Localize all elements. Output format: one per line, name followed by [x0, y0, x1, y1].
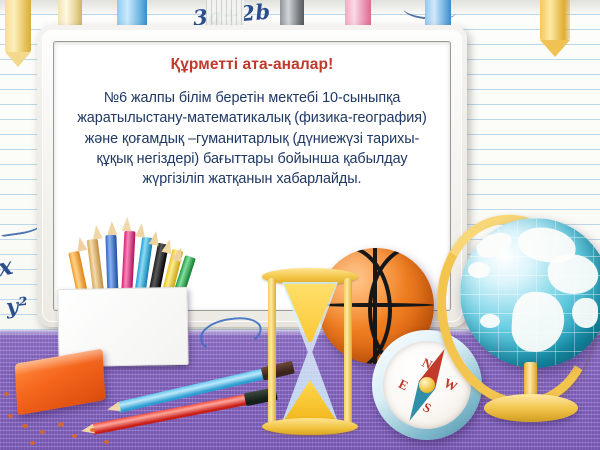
- eraser-shaving: [104, 440, 109, 444]
- eraser-shaving: [90, 428, 96, 432]
- eraser-shaving: [4, 392, 9, 396]
- announcement-content: Құрметті ата-аналар! №6 жалпы білім бере…: [54, 42, 450, 190]
- globe: [438, 214, 600, 442]
- compass-hub: [419, 377, 435, 393]
- eraser-shaving: [30, 441, 35, 445]
- globe-landmass: [468, 262, 490, 278]
- eraser-shaving: [40, 430, 45, 434]
- poster-stage: 3a+2b b x y²: [0, 0, 600, 450]
- hourglass-post-right: [344, 278, 352, 426]
- globe-sphere: [460, 218, 600, 368]
- eraser-shaving: [72, 434, 77, 438]
- globe-base: [484, 394, 578, 422]
- announcement-title: Құрметті ата-аналар!: [70, 56, 434, 75]
- compass-label-east: E: [396, 376, 411, 394]
- globe-landmass: [572, 298, 598, 328]
- eraser-shaving: [22, 424, 28, 428]
- hourglass-bottom-plate: [262, 418, 358, 435]
- hourglass-sand-top: [284, 284, 336, 342]
- globe-landmass: [480, 314, 500, 328]
- hanging-pencil-yellow: [5, 0, 31, 67]
- eraser-shaving: [8, 414, 13, 418]
- handwriting-left-formula: y²: [5, 292, 30, 319]
- hourglass-post-left: [268, 278, 276, 426]
- eraser-shaving: [58, 422, 64, 427]
- hourglass: [262, 268, 358, 436]
- hanging-pencil-gold: [540, 0, 570, 57]
- announcement-body: №6 жалпы білім беретін мектебі 10-сыныпқ…: [70, 88, 434, 190]
